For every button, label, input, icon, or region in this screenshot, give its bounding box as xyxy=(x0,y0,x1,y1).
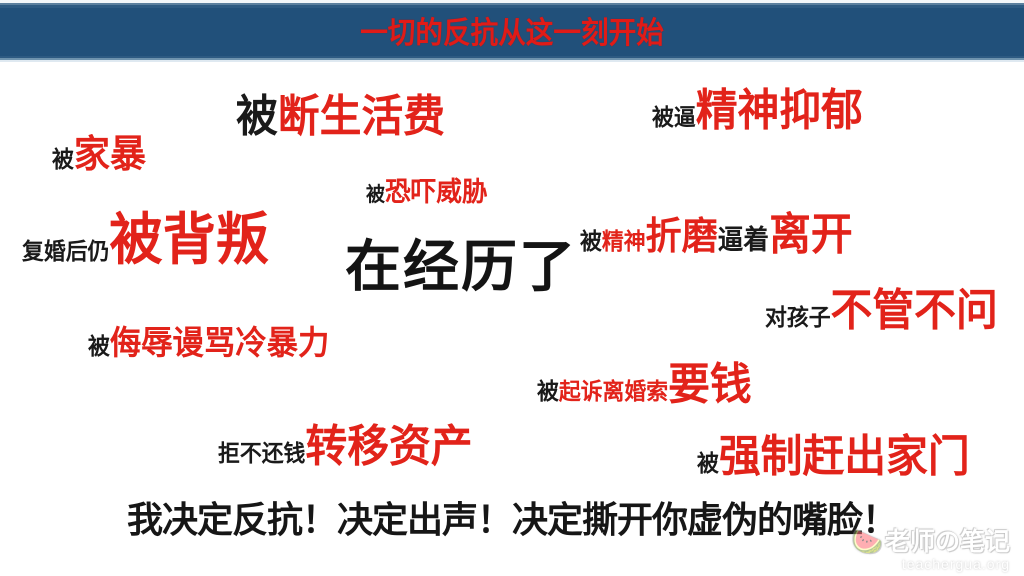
cloud-word-segment: 被 xyxy=(580,230,602,253)
cloud-word-segment: 离开 xyxy=(769,213,853,257)
cloud-word-forced-depression: 被逼精神抑郁 xyxy=(652,89,863,133)
cloud-word-segment: 被 xyxy=(52,148,74,171)
cloud-word-threatened: 被恐吓威胁 xyxy=(366,179,488,206)
cloud-word-segment: 折磨 xyxy=(646,218,718,256)
cloud-word-mental-torture-forced-to-leave: 被精神折磨逼着离开 xyxy=(580,213,853,257)
cloud-word-segment: 被 xyxy=(537,380,559,403)
cloud-word-living-expenses-cut: 被断生活费 xyxy=(236,95,445,139)
cloud-word-segment: 家暴 xyxy=(74,136,146,174)
cloud-word-beaten: 被家暴 xyxy=(52,136,146,174)
header-banner: 一切的反抗从这一刻开始 xyxy=(0,0,1024,62)
bottom-declaration: 我决定反抗！决定出声！决定撕开你虚伪的嘴脸！ xyxy=(0,502,1024,538)
cloud-word-insulted-abused-cold-violence: 被侮辱谩骂冷暴力 xyxy=(88,326,329,359)
cloud-word-segment: 强制赶出家门 xyxy=(719,435,970,479)
cloud-word-segment: 被 xyxy=(697,452,719,475)
cloud-word-segment: 被 xyxy=(88,335,110,358)
cloud-word-betrayed-after-remarriage: 复婚后仍被背叛 xyxy=(22,212,269,268)
cloud-word-ignoring-children: 对孩子不管不问 xyxy=(765,289,998,333)
cloud-word-segment: 被 xyxy=(236,95,278,139)
cloud-word-segment: 被逼 xyxy=(652,106,696,129)
cloud-word-segment: 侮辱谩骂冷暴力 xyxy=(110,326,329,359)
poster-canvas: 一切的反抗从这一刻开始 被家暴被断生活费被逼精神抑郁被恐吓威胁复婚后仍被背叛被精… xyxy=(0,0,1024,576)
cloud-word-forcibly-driven-out: 被强制赶出家门 xyxy=(697,435,970,479)
cloud-word-segment: 拒不还钱 xyxy=(218,442,305,465)
cloud-word-sued-for-divorce-demanding-money: 被起诉离婚索要钱 xyxy=(537,363,752,407)
cloud-word-refusing-to-repay-transferring-assets: 拒不还钱转移资产 xyxy=(218,425,473,469)
cloud-word-segment: 对孩子 xyxy=(765,306,831,329)
cloud-word-segment: 被背叛 xyxy=(109,212,269,268)
center-headline: 在经历了 xyxy=(345,239,577,295)
banner-title: 一切的反抗从这一刻开始 xyxy=(360,19,664,49)
cloud-word-segment: 起诉离婚索 xyxy=(559,380,668,403)
cloud-word-segment: 恐吓威胁 xyxy=(385,179,488,206)
cloud-word-segment: 复婚后仍 xyxy=(22,240,109,263)
cloud-word-segment: 精神抑郁 xyxy=(696,89,863,133)
cloud-word-segment: 逼着 xyxy=(718,227,769,254)
cloud-word-segment: 不管不问 xyxy=(831,289,998,333)
cloud-word-segment: 被 xyxy=(366,185,385,205)
cloud-word-segment: 精神 xyxy=(602,230,646,253)
cloud-word-segment: 要钱 xyxy=(668,363,752,407)
cloud-word-segment: 转移资产 xyxy=(305,425,472,469)
cloud-word-segment: 断生活费 xyxy=(278,95,445,139)
watermark-url: teachergua.org xyxy=(852,556,1010,572)
